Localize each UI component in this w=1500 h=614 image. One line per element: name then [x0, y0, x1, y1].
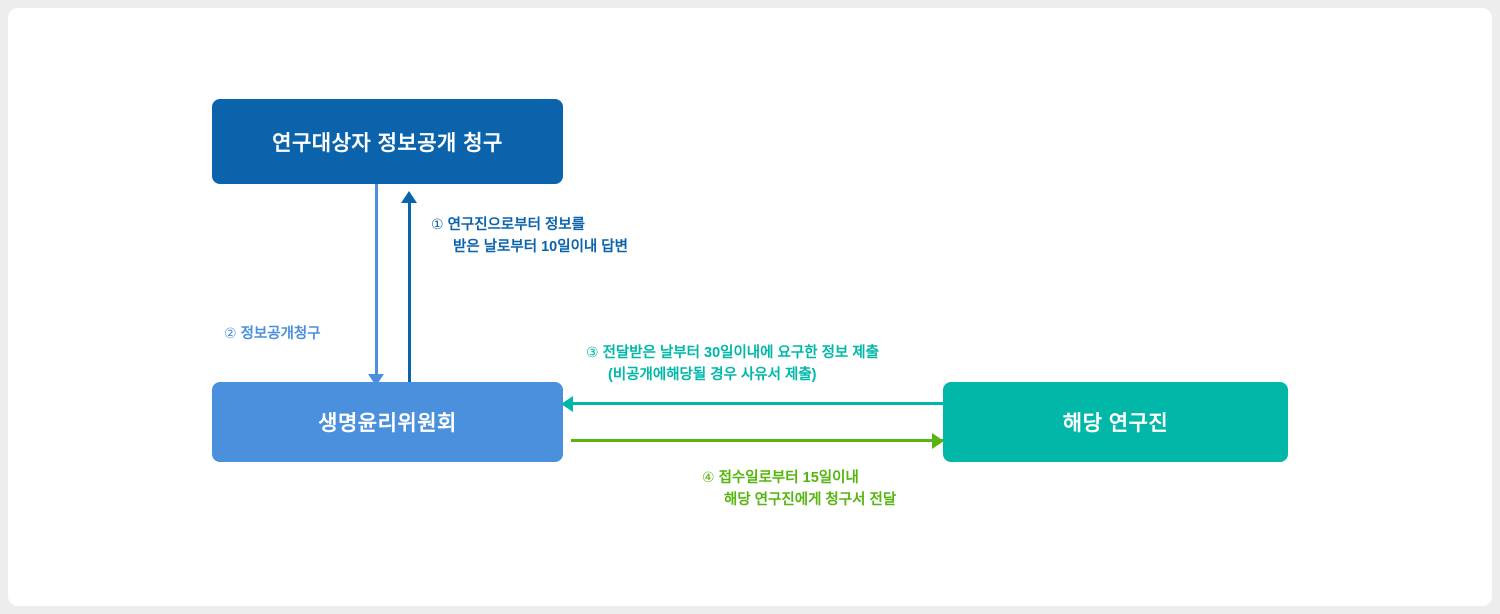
connector-line-request-to-irb	[375, 184, 378, 380]
step-text-1-line2: 받은 날로부터 10일이내 답변	[431, 236, 628, 258]
step-text-2-line1: 정보공개청구	[241, 326, 321, 342]
step-number-1: ①	[431, 216, 444, 232]
step-label-1: ①연구진으로부터 정보를 받은 날로부터 10일이내 답변	[431, 214, 628, 259]
step-text-4-line2: 해당 연구진에게 청구서 전달	[702, 489, 896, 511]
step-label-2: ②정보공개청구	[224, 323, 321, 345]
step-label-4: ④접수일로부터 15일이내 해당 연구진에게 청구서 전달	[702, 467, 896, 512]
arrow-down-icon	[368, 374, 384, 386]
connector-line-researchers-to-irb	[571, 402, 943, 405]
connector-line-irb-to-researchers	[571, 439, 943, 442]
arrow-up-icon	[401, 191, 417, 203]
arrow-right-icon	[932, 433, 944, 449]
step-number-3: ③	[586, 344, 599, 360]
node-label-researchers: 해당 연구진	[1063, 407, 1168, 437]
step-number-2: ②	[224, 325, 237, 341]
node-label-irb: 생명윤리위원회	[318, 407, 457, 437]
step-number-4: ④	[702, 469, 715, 485]
step-text-3-line2: (비공개에해당될 경우 사유서 제출)	[586, 364, 879, 386]
step-text-3-line1: 전달받은 날부터 30일이내에 요구한 정보 제출	[603, 345, 879, 361]
node-box-irb: 생명윤리위원회	[212, 382, 563, 462]
step-text-4-line1: 접수일로부터 15일이내	[719, 470, 859, 486]
connector-line-irb-to-request	[408, 202, 411, 382]
diagram-panel: 연구대상자 정보공개 청구 생명윤리위원회 해당 연구진 ①연구진으로부터 정보…	[8, 8, 1492, 606]
arrow-left-icon	[561, 396, 573, 412]
step-label-3: ③전달받은 날부터 30일이내에 요구한 정보 제출 (비공개에해당될 경우 사…	[586, 342, 879, 387]
step-text-1-line1: 연구진으로부터 정보를	[448, 217, 585, 233]
node-label-request: 연구대상자 정보공개 청구	[272, 127, 503, 157]
diagram-stage: 연구대상자 정보공개 청구 생명윤리위원회 해당 연구진 ①연구진으로부터 정보…	[8, 8, 1492, 606]
node-box-request: 연구대상자 정보공개 청구	[212, 99, 563, 184]
node-box-researchers: 해당 연구진	[943, 382, 1288, 462]
